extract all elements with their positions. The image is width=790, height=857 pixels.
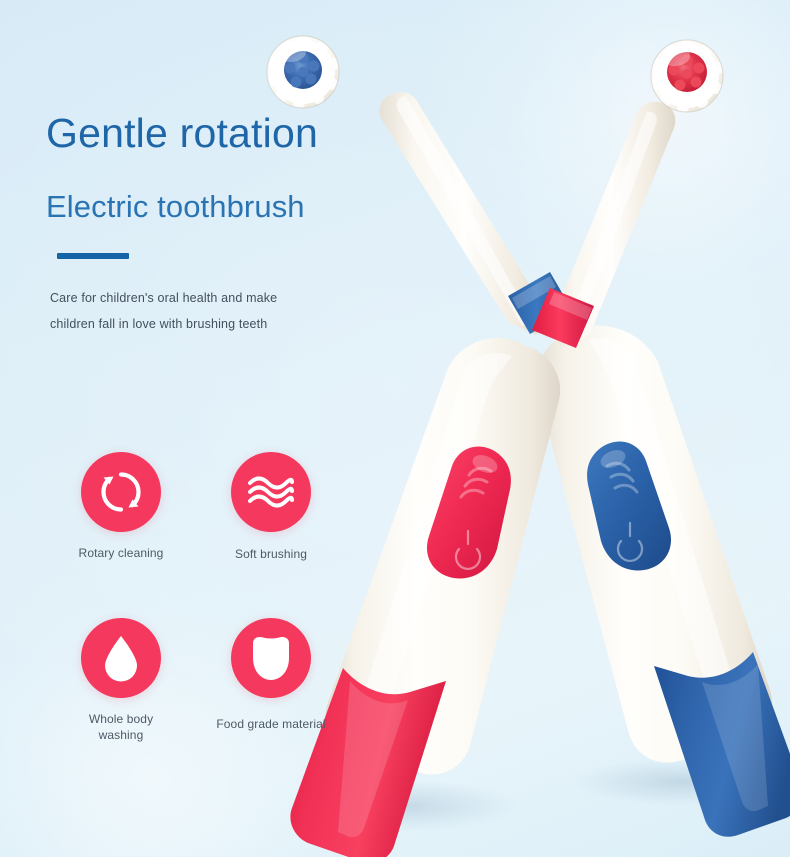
blue-brush-neck-highlight — [397, 96, 532, 326]
tooth-shield-icon — [249, 634, 293, 682]
feature-food-grade-material: Food grade material — [196, 618, 346, 743]
feature-label: Rotary cleaning — [79, 545, 164, 561]
divider-rule — [57, 253, 129, 259]
headline: Gentle rotation — [46, 112, 376, 155]
product-poster: Gentle rotation Electric toothbrush Care… — [0, 0, 790, 857]
feature-row-1: Rotary cleaning Soft brushing — [46, 452, 346, 562]
rotation-arrows-icon — [98, 469, 144, 515]
copy-block: Gentle rotation Electric toothbrush Care… — [46, 112, 376, 338]
tagline-line-2: children fall in love with brushing teet… — [50, 312, 376, 338]
feature-label: Soft brushing — [235, 546, 307, 562]
feature-row-2: Whole body washing Food grade material — [46, 618, 346, 743]
feature-soft-brushing: Soft brushing — [196, 452, 346, 562]
feature-rotary-cleaning: Rotary cleaning — [46, 452, 196, 562]
waves-icon — [247, 475, 295, 509]
feature-icon-badge — [231, 452, 311, 532]
feature-label: Whole body washing — [79, 711, 163, 743]
tagline: Care for children's oral health and make… — [50, 286, 376, 337]
feature-list: Rotary cleaning Soft brushing — [46, 452, 346, 744]
subheadline: Electric toothbrush — [46, 191, 376, 224]
feature-whole-body-washing: Whole body washing — [46, 618, 196, 743]
feature-label: Food grade material — [216, 716, 325, 732]
feature-icon-badge — [81, 618, 161, 698]
feature-icon-badge — [231, 618, 311, 698]
tagline-line-1: Care for children's oral health and make — [50, 286, 376, 312]
feature-icon-badge — [81, 452, 161, 532]
water-drop-icon — [102, 634, 140, 682]
